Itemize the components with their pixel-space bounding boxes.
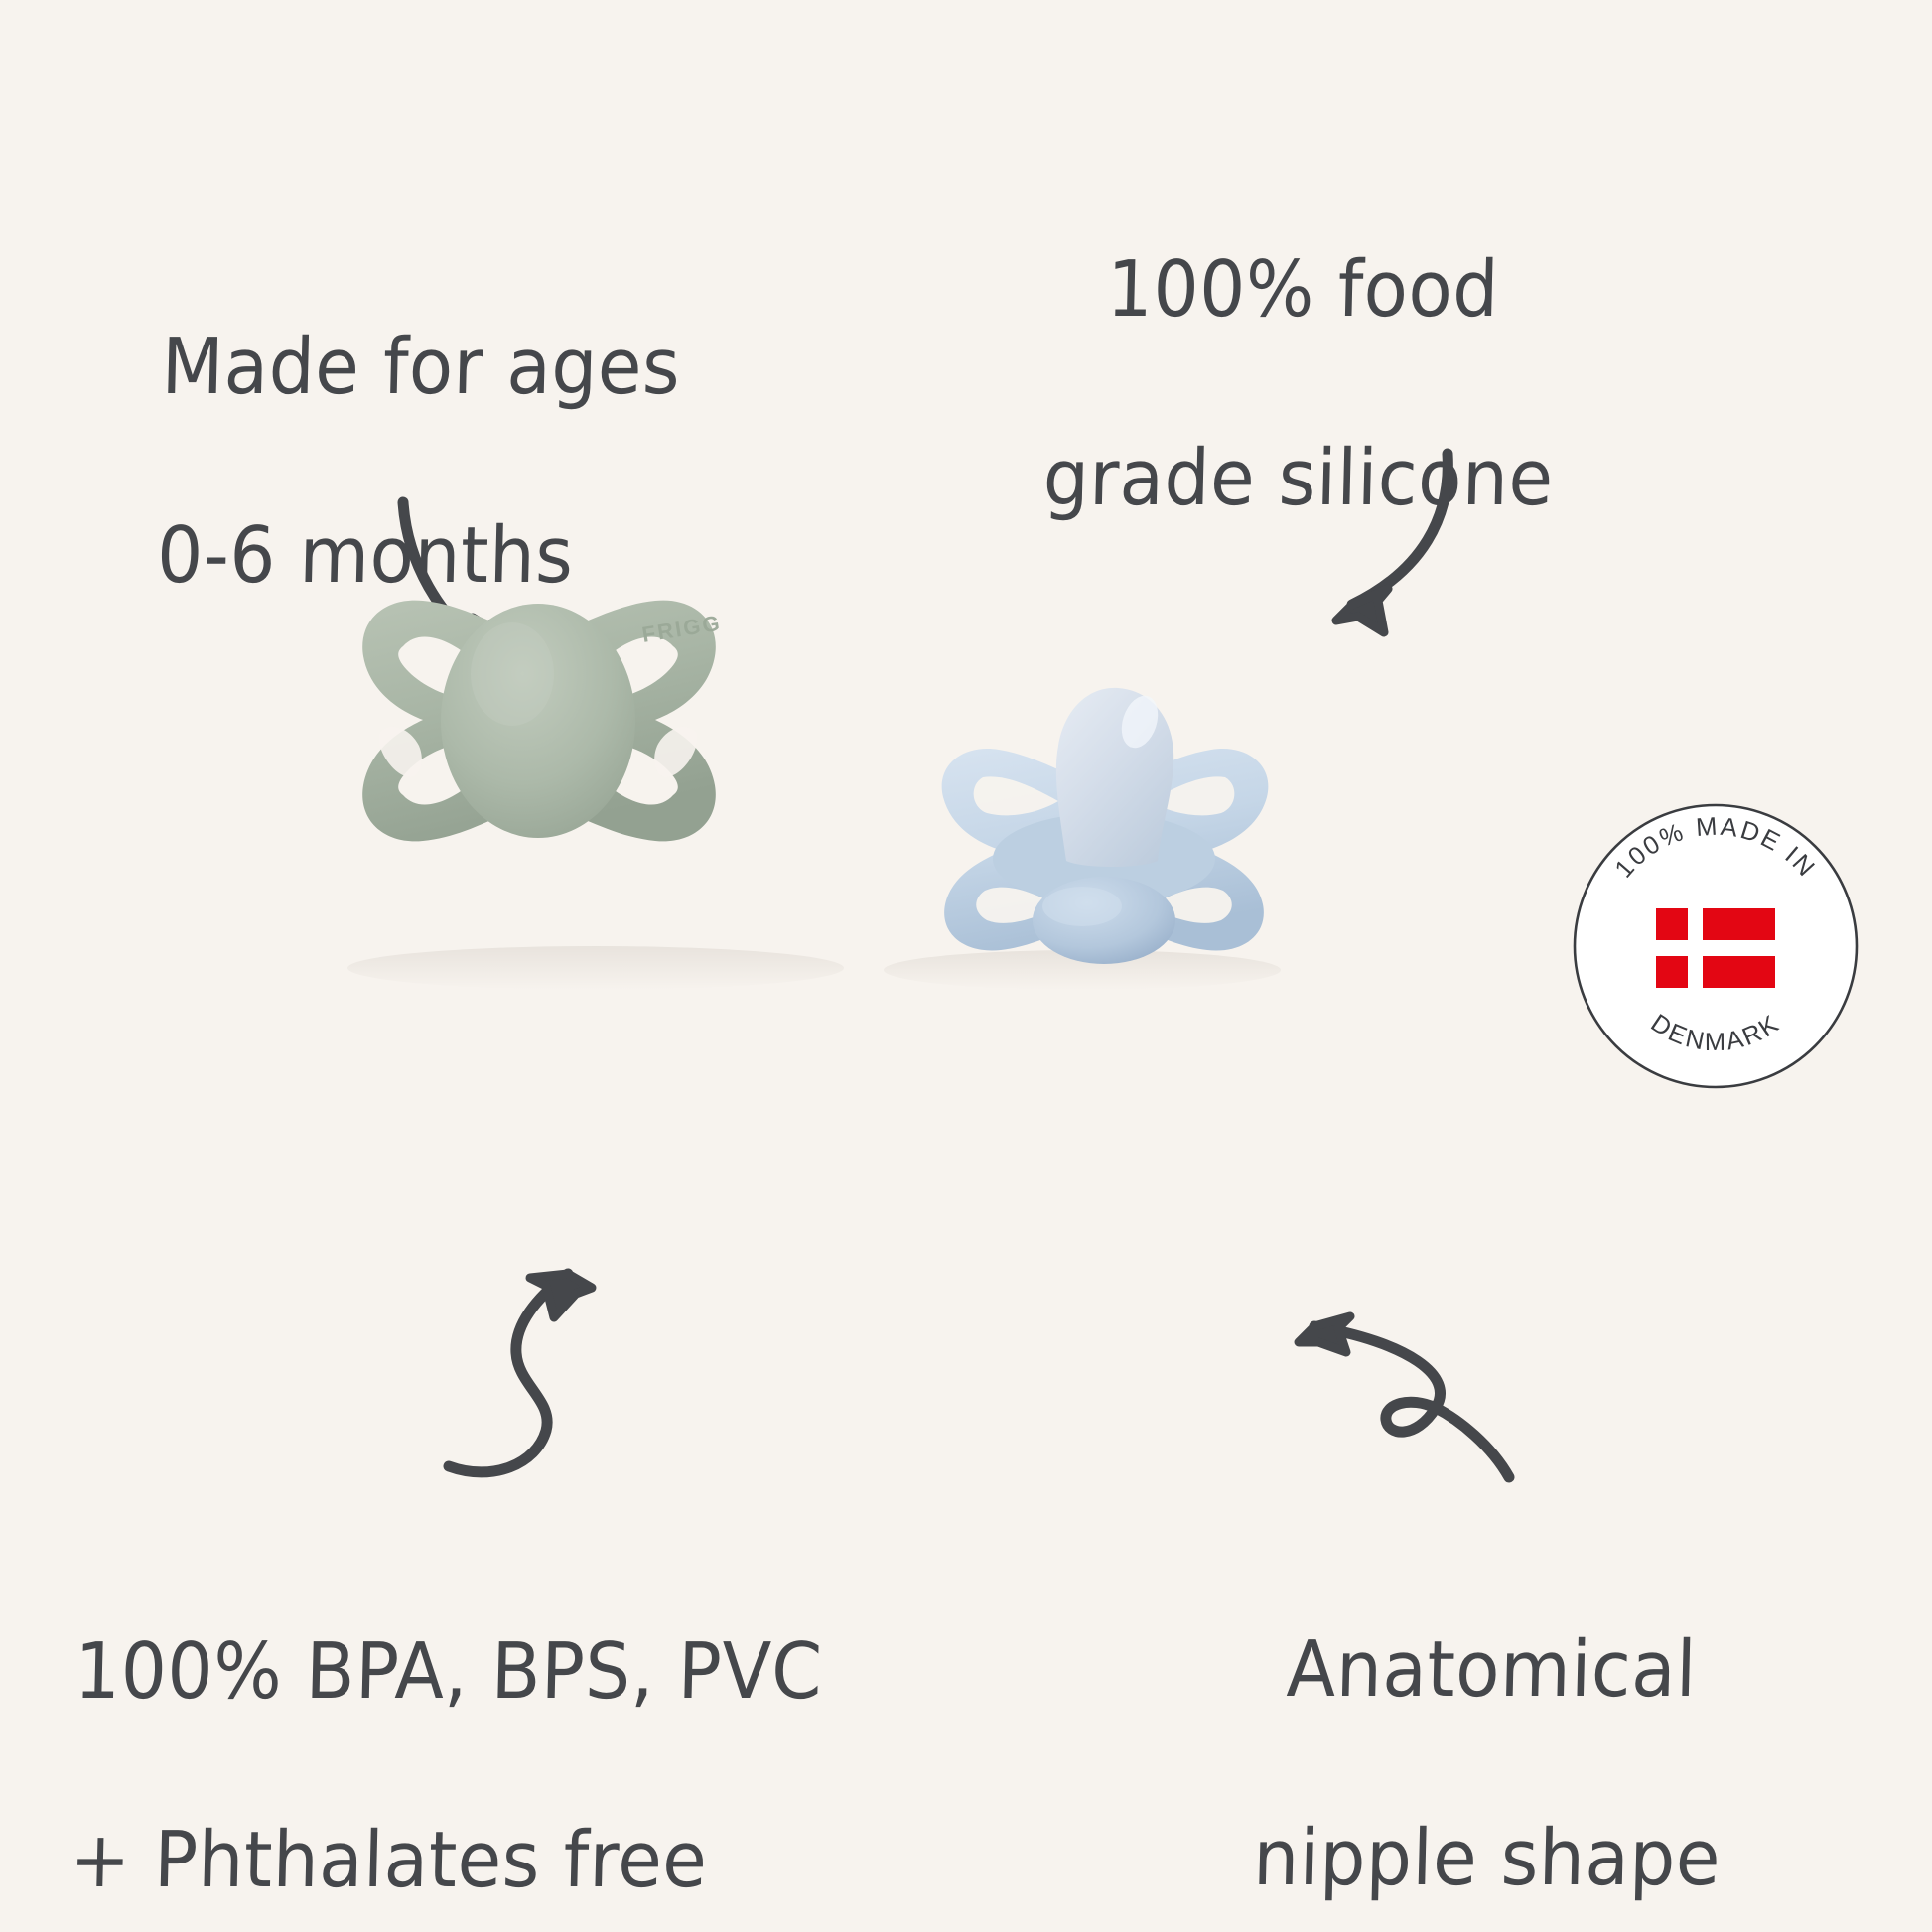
made-in-denmark-badge: 100% MADE IN DENMARK	[1572, 802, 1860, 1090]
callout-line-2: + Phthalates free	[69, 1814, 884, 1908]
callout-line-2: grade silicone	[974, 432, 1622, 526]
callout-line-1: Anatomical	[1204, 1623, 1779, 1718]
s-curve-arrow-up-right-icon	[397, 1236, 715, 1544]
callout-line-1: Made for ages	[161, 321, 755, 415]
product-shadow	[347, 946, 844, 990]
callout-line-1: 100% food	[979, 243, 1627, 338]
product-feature-infographic: Made for ages 0-6 months 100% food grade…	[0, 0, 1932, 1932]
danish-flag-icon	[1656, 908, 1775, 988]
callout-anatomical-nipple: Anatomical nipple shape	[1197, 1529, 1781, 1932]
pacifier-powder-blue	[942, 688, 1269, 964]
button-highlight	[471, 622, 554, 726]
ring-highlight	[1042, 887, 1122, 926]
callout-bpa-free: 100% BPA, BPS, PVC + Phthalates free	[67, 1531, 891, 1932]
callout-food-grade-silicone: 100% food grade silicone	[972, 149, 1630, 621]
looped-arrow-up-left-icon	[1271, 1281, 1638, 1569]
product-photo: FRIGG	[328, 571, 1330, 988]
callout-line-1: 100% BPA, BPS, PVC	[73, 1625, 889, 1720]
callout-line-2: nipple shape	[1199, 1812, 1774, 1906]
pacifier-sage-green: FRIGG	[362, 601, 723, 842]
